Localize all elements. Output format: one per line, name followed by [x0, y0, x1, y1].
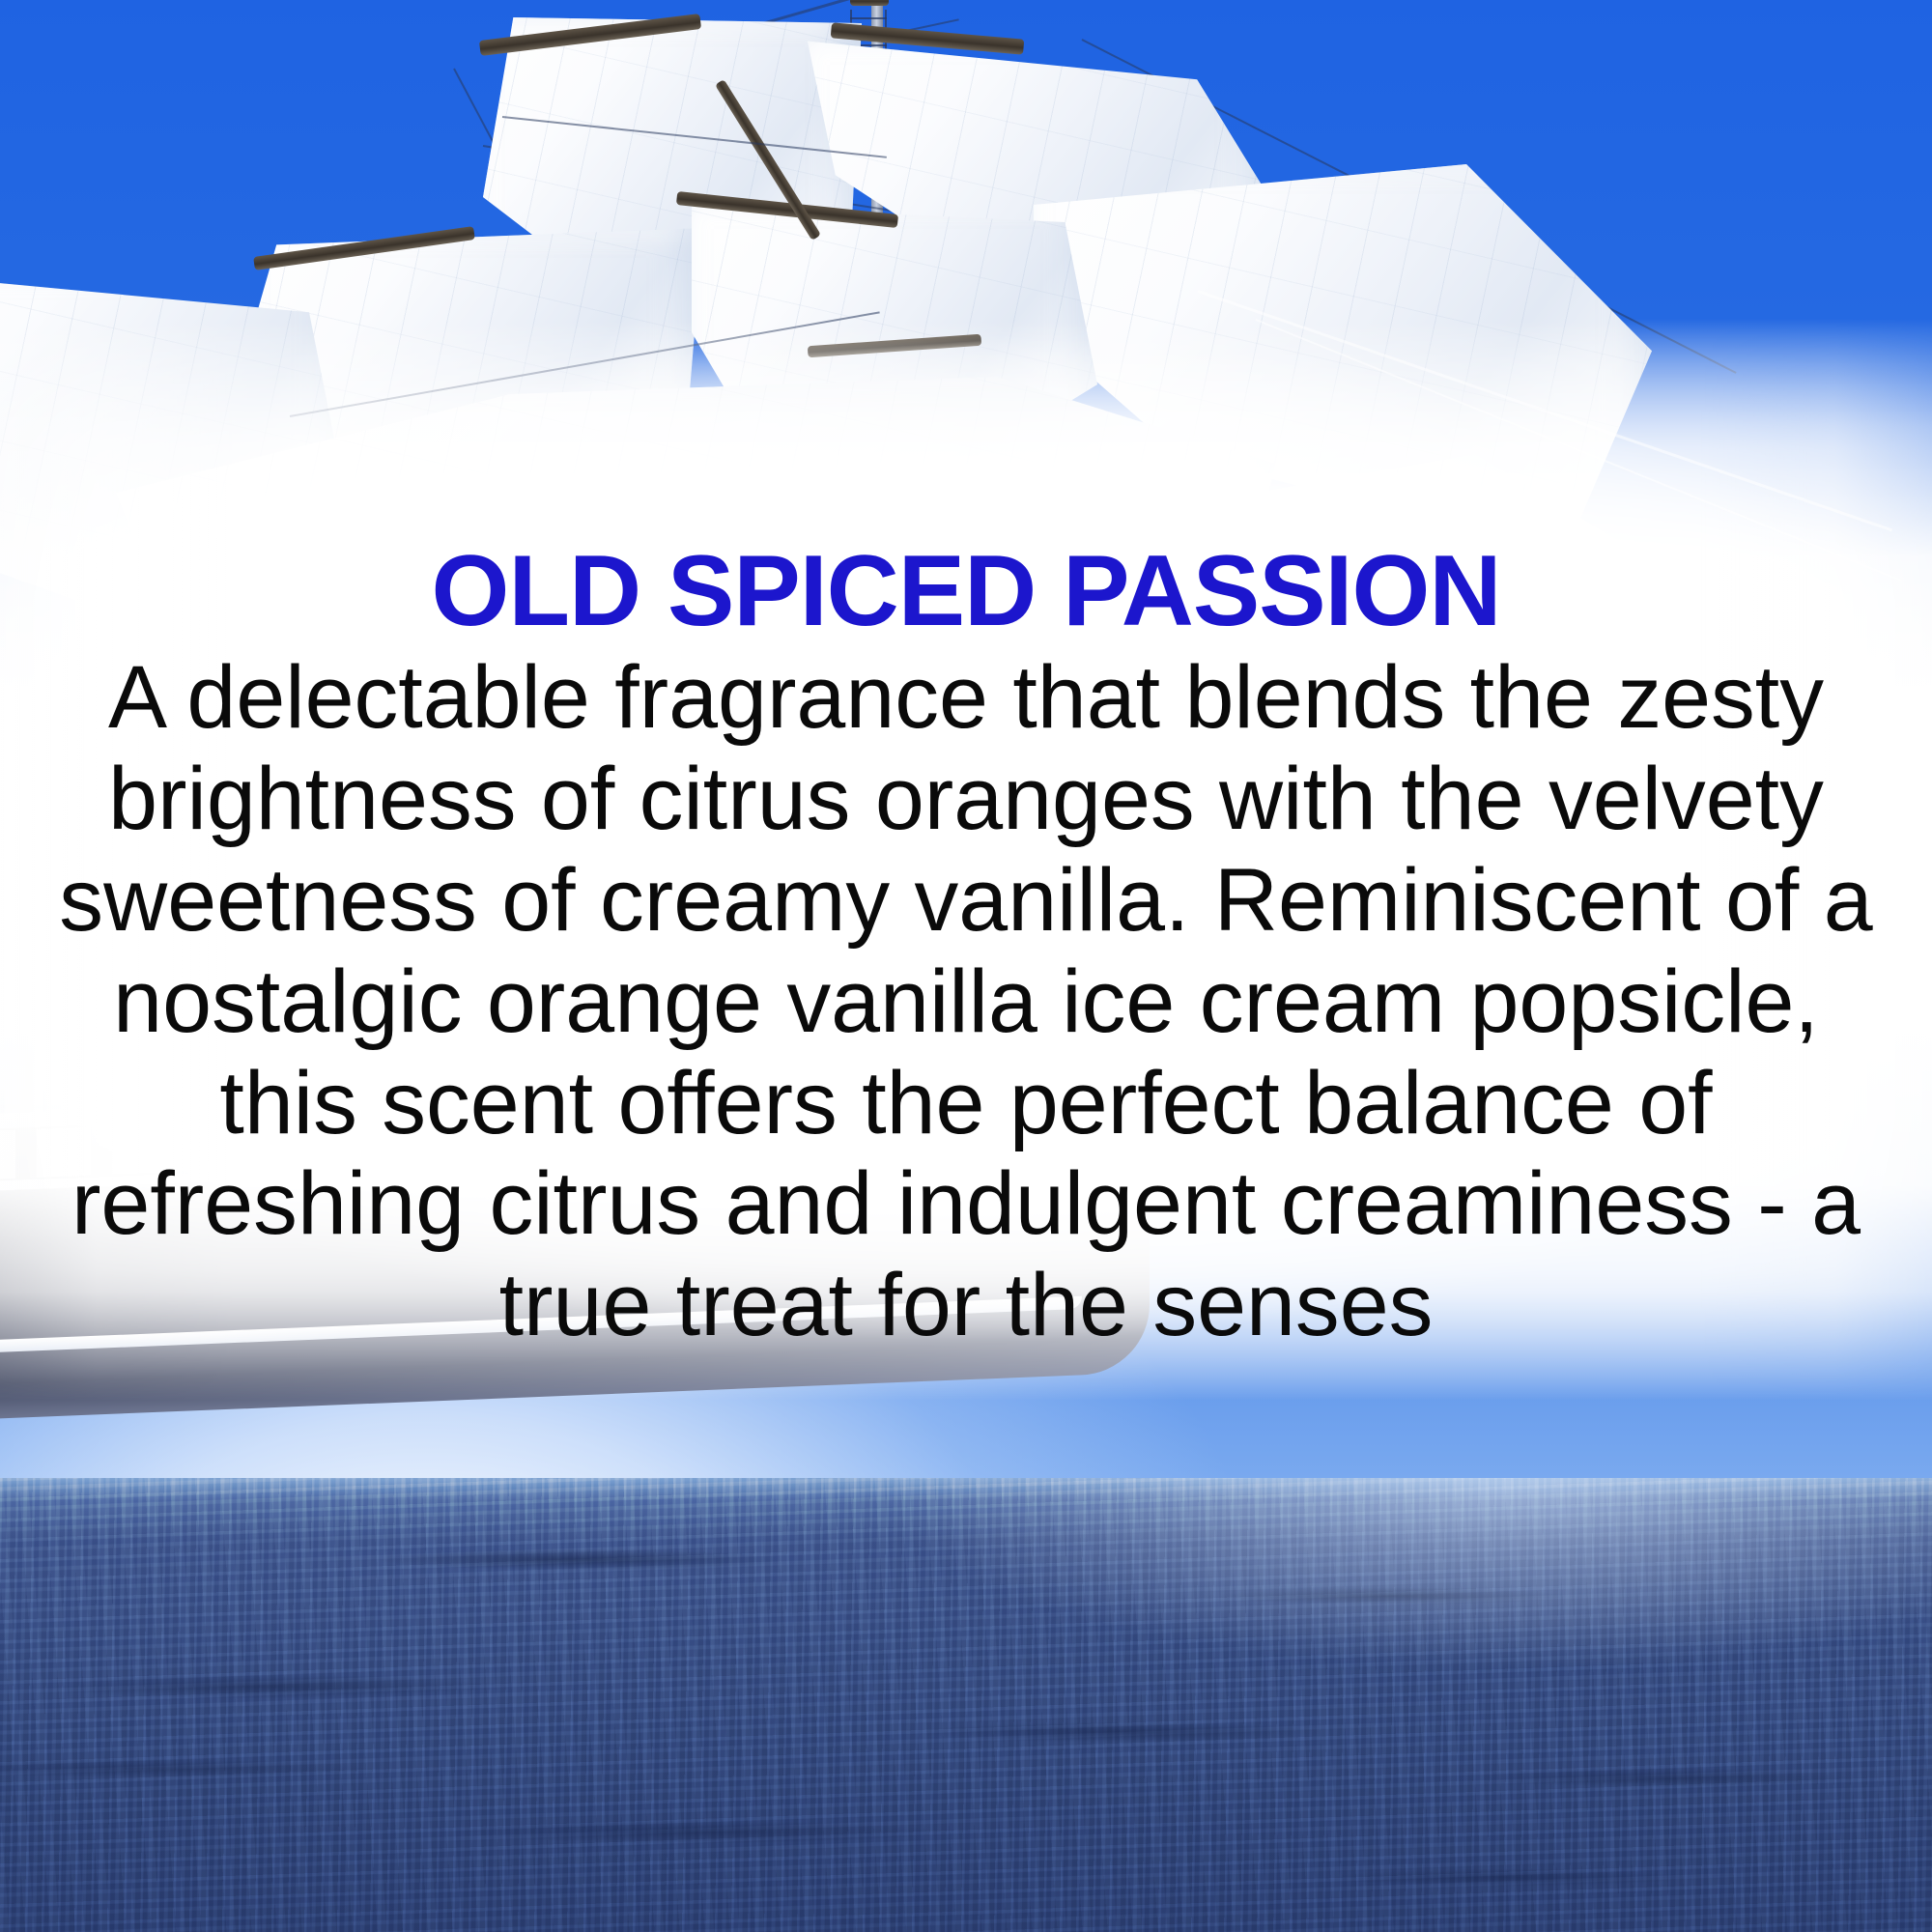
- masthead-truck: [850, 0, 889, 6]
- poster-text-block: OLD SPICED PASSION A delectable fragranc…: [0, 541, 1932, 1356]
- mid-yard-left: [253, 226, 475, 270]
- fragrance-poster: OLD SPICED PASSION A delectable fragranc…: [0, 0, 1932, 1932]
- product-title: OLD SPICED PASSION: [48, 541, 1884, 641]
- footrope-upper: [502, 116, 887, 158]
- product-description: A delectable fragrance that blends the z…: [53, 647, 1880, 1356]
- upper-yard-right: [831, 22, 1025, 54]
- gaff-spar-diagonal: [715, 79, 821, 241]
- upper-yard-left: [479, 14, 701, 56]
